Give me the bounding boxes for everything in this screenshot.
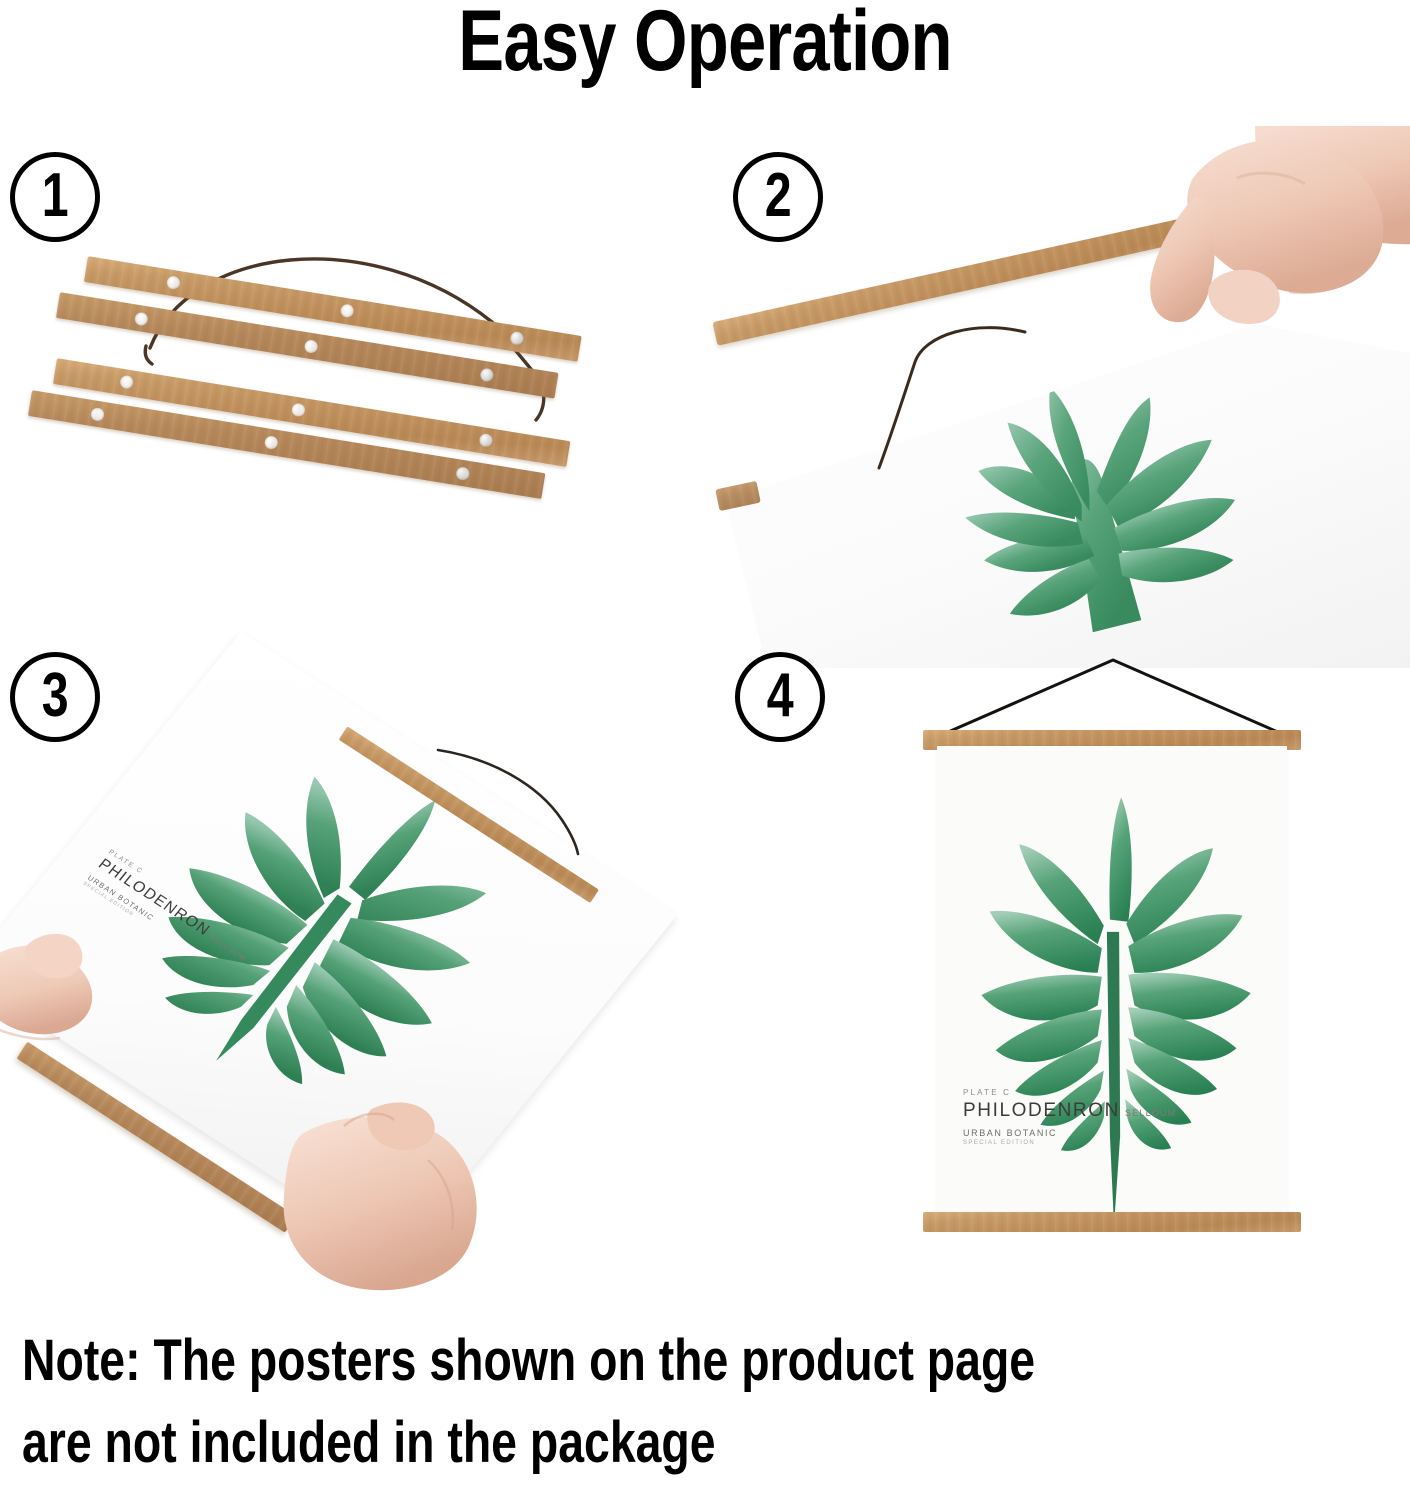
step-panel-1: 1 [0, 140, 705, 640]
magnet-dot [510, 331, 525, 346]
poster-species-name: PHILODENRON [963, 1100, 1120, 1121]
magnet-dot [479, 433, 494, 448]
magnet-dot [90, 407, 105, 422]
magnet-dot [455, 466, 470, 481]
step-number-1: 1 [42, 165, 69, 227]
hand-right-holding-rail [278, 1098, 528, 1298]
disclaimer-note: Note: The posters shown on the product p… [22, 1320, 1126, 1485]
hand-left-holding-rail [0, 918, 172, 1108]
step-number-3: 3 [42, 665, 69, 727]
poster-plate-label: PLATE C [963, 1088, 1176, 1097]
step-number-badge-1: 1 [10, 152, 100, 242]
magnet-dot [134, 312, 149, 327]
poster-caption: PLATE C PHILODENRONSELLOUM URBAN BOTANIC… [963, 1088, 1176, 1146]
magnet-dot [304, 339, 319, 354]
hand-placing-rail [1005, 126, 1410, 456]
infographic-page: Easy Operation 1 [0, 0, 1410, 1497]
magnet-dot [340, 303, 355, 318]
poster-collection: URBAN BOTANIC [963, 1128, 1176, 1138]
magnet-dot [291, 402, 306, 417]
poster-edition: SPECIAL EDITION [963, 1140, 1176, 1146]
step-number-badge-4: 4 [735, 652, 825, 742]
step-panel-3: 3 [0, 640, 705, 1280]
step-number-2: 2 [765, 165, 792, 227]
poster-species-variant: SELLOUM [1125, 1108, 1176, 1118]
step-number-4: 4 [767, 665, 794, 727]
step-panel-4: 4 [705, 640, 1410, 1280]
poster-sheet: PLATE C PHILODENRONSELLOUM URBAN BOTANIC… [937, 746, 1287, 1216]
step-number-badge-2: 2 [733, 152, 823, 242]
step-number-badge-3: 3 [10, 652, 100, 742]
frame-rail-bottom [923, 1212, 1301, 1232]
step-panel-2: 2 [705, 140, 1410, 640]
hanging-cord-icon [430, 728, 640, 878]
magnet-dot [119, 375, 134, 390]
magnet-dot [166, 275, 181, 290]
magnet-dot [479, 368, 494, 383]
page-title: Easy Operation [141, 0, 1269, 89]
magnet-dot [264, 435, 279, 450]
